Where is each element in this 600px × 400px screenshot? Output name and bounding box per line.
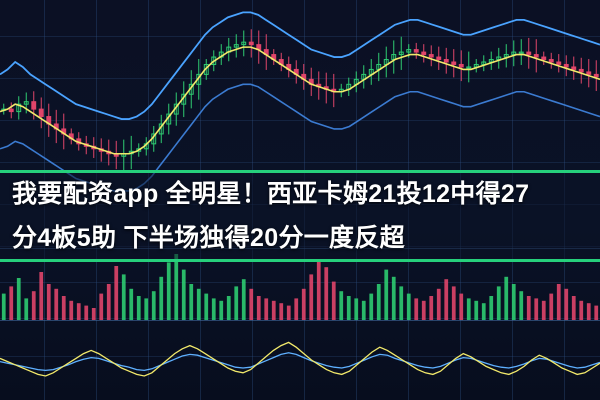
indicator-panel bbox=[0, 320, 600, 400]
indicator-chart-svg bbox=[0, 320, 600, 400]
headline-line-2: 分4板5助 下半场独得20分一度反超 bbox=[10, 216, 590, 260]
indicator-fast-line bbox=[0, 342, 600, 376]
chart-screenshot: 我要配资app 全明星！西亚卡姆21投12中得27 分4板5助 下半场独得20分… bbox=[0, 0, 600, 400]
headline-overlay: 我要配资app 全明星！西亚卡姆21投12中得27 分4板5助 下半场独得20分… bbox=[0, 170, 600, 262]
indicator-slow-line bbox=[0, 353, 600, 371]
candlestick-series bbox=[2, 29, 598, 170]
upper-band-line bbox=[0, 12, 600, 119]
volume-bars bbox=[2, 254, 598, 320]
mid-line bbox=[0, 47, 600, 154]
headline-line-1: 我要配资app 全明星！西亚卡姆21投12中得27 bbox=[10, 172, 590, 216]
